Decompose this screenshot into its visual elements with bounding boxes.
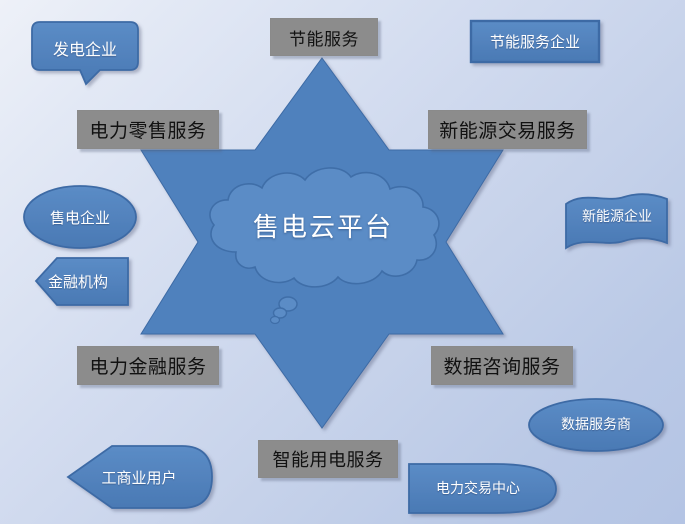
service-label-data-consulting-service[interactable]: 数据咨询服务 [431,346,573,385]
service-label-power-retail-service[interactable]: 电力零售服务 [77,110,219,149]
new-energy-company-shape[interactable] [566,194,667,248]
power-generation-company-shape[interactable] [32,22,138,84]
service-label-new-energy-trade-service[interactable]: 新能源交易服务 [428,110,587,149]
commercial-industrial-user-shape[interactable] [68,446,212,508]
power-trading-center-shape[interactable] [409,464,556,513]
service-label-energy-saving-service[interactable]: 节能服务 [270,18,378,56]
data-service-provider-shape[interactable] [529,399,663,451]
service-label-power-finance-service[interactable]: 电力金融服务 [77,346,219,385]
service-label-smart-power-service[interactable]: 智能用电服务 [258,440,398,478]
energy-service-company-shape[interactable] [471,21,599,62]
diagram-canvas: 节能服务 电力零售服务 新能源交易服务 电力金融服务 数据咨询服务 智能用电服务… [0,0,685,524]
financial-institution-shape[interactable] [36,258,128,305]
power-selling-company-shape[interactable] [24,186,136,248]
